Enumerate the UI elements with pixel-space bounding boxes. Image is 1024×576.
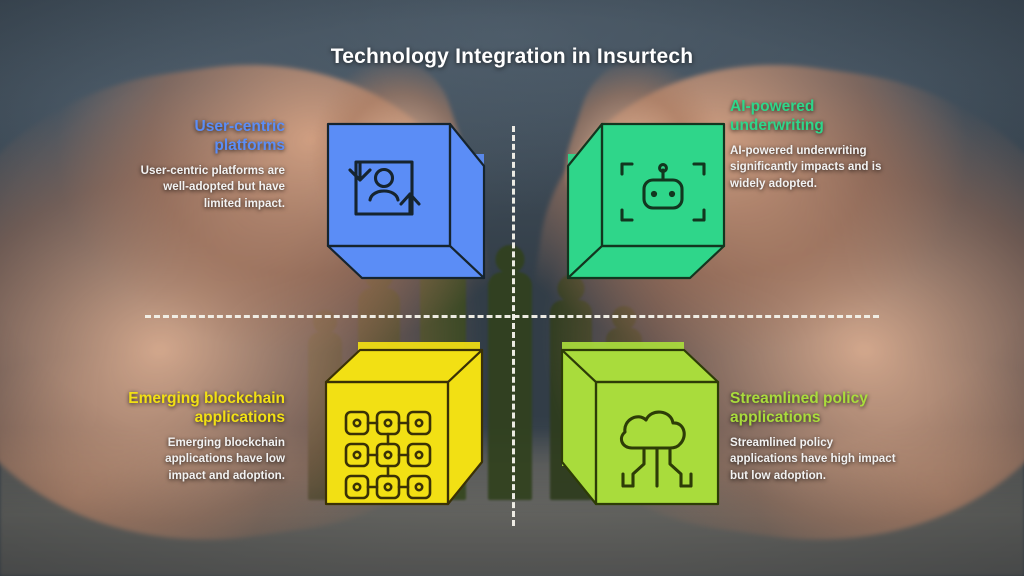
quadrant-text-top-left: User-centric platforms User-centric plat…	[125, 118, 285, 212]
quadrant-heading: AI-powered underwriting	[730, 98, 900, 136]
quadrant-heading: Emerging blockchain applications	[125, 390, 285, 428]
quadrant-icon-streamlined-policy-applications[interactable]	[534, 340, 734, 540]
quadrant-icon-emerging-blockchain-applications[interactable]	[318, 340, 518, 540]
quadrant-heading: User-centric platforms	[125, 118, 285, 156]
page-title: Technology Integration in Insurtech	[0, 45, 1024, 69]
quadrant-icon-ai-powered-underwriting[interactable]	[534, 118, 734, 318]
quadrant-text-top-right: AI-powered underwriting AI-powered under…	[730, 98, 900, 192]
infographic-canvas: Technology Integration in Insurtech	[0, 0, 1024, 576]
quadrant-icon-user-centric-platforms[interactable]	[318, 118, 518, 318]
quadrant-heading: Streamlined policy applications	[730, 390, 900, 428]
quadrant-text-bottom-left: Emerging blockchain applications Emergin…	[125, 390, 285, 484]
quadrant-text-bottom-right: Streamlined policy applications Streamli…	[730, 390, 900, 484]
quadrant-body: AI-powered underwriting significantly im…	[730, 143, 900, 192]
quadrant-body: Emerging blockchain applications have lo…	[125, 435, 285, 484]
quadrant-body: Streamlined policy applications have hig…	[730, 435, 900, 484]
quadrant-body: User-centric platforms are well-adopted …	[125, 163, 285, 212]
